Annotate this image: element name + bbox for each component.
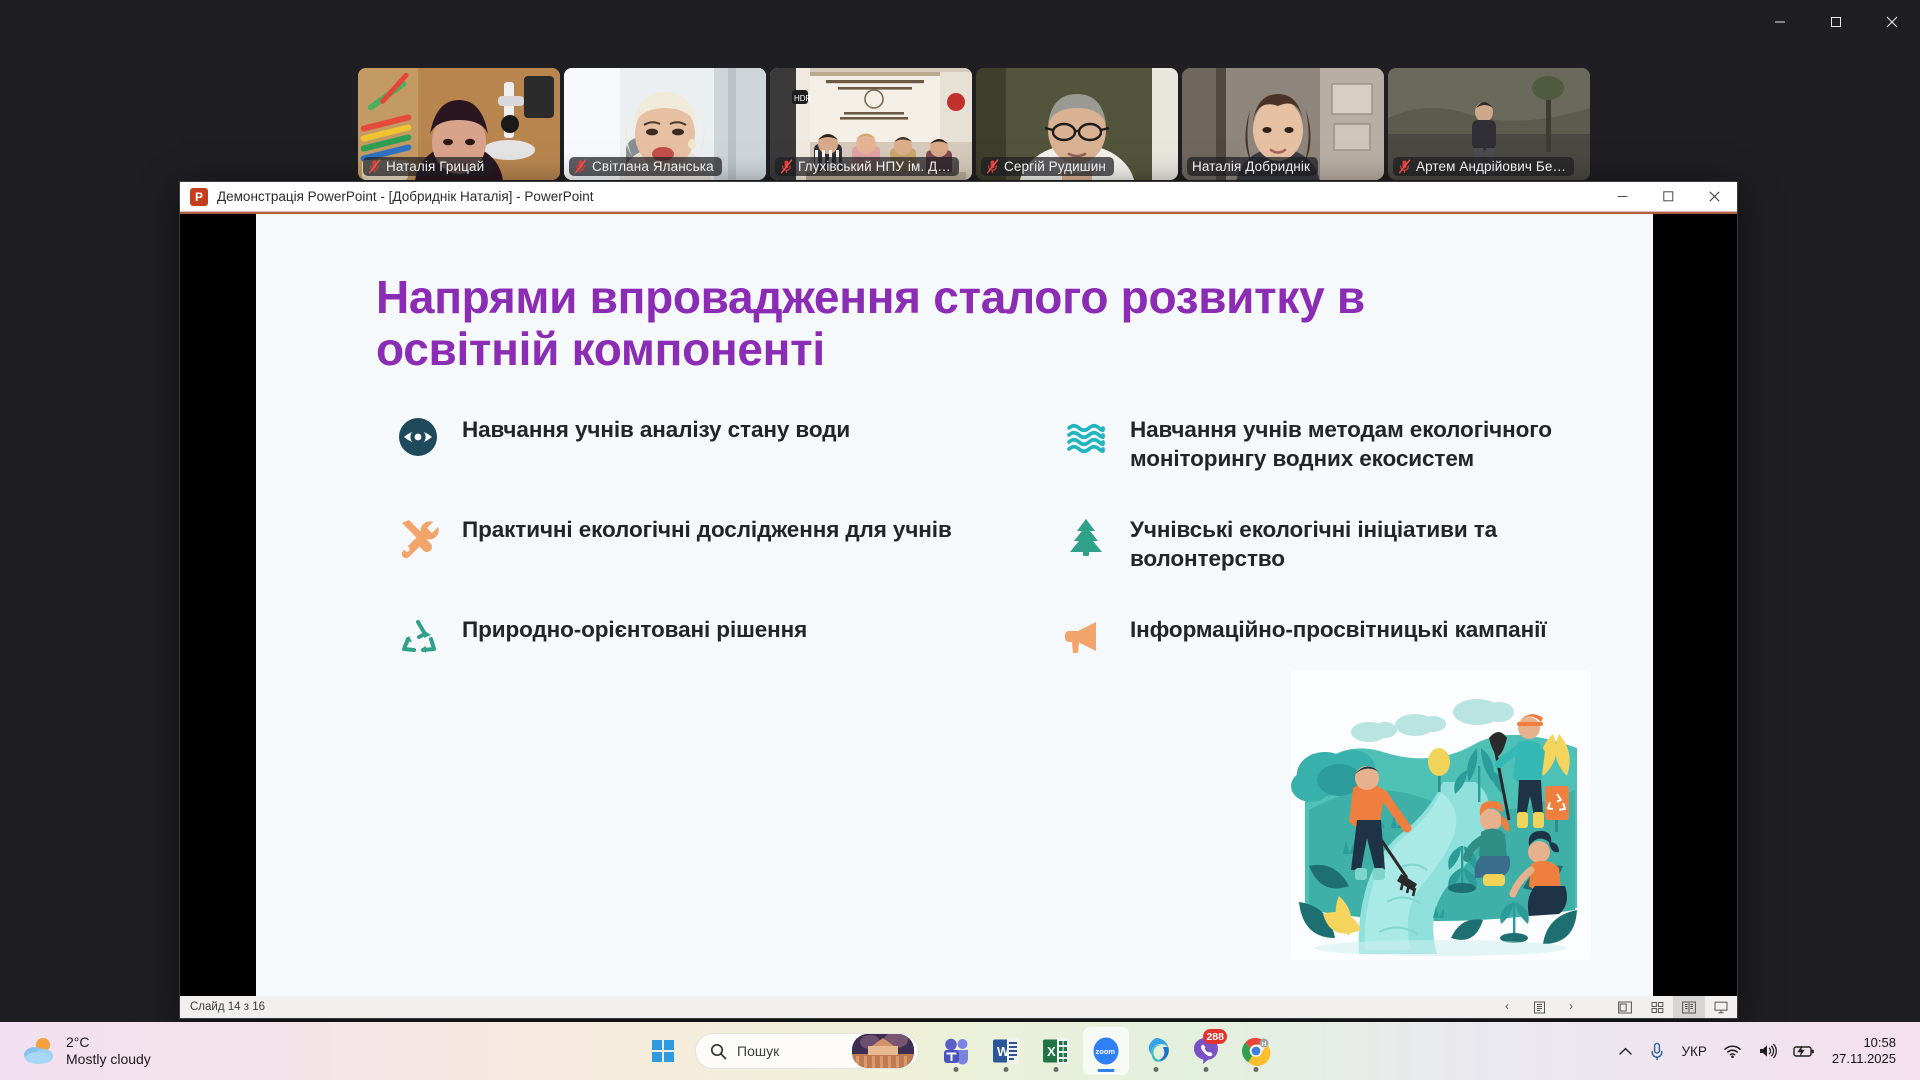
mic-muted-icon (368, 159, 381, 174)
search-thumbnail-image (852, 1034, 914, 1068)
slide-title: Напрями впровадження сталого розвитку в … (376, 272, 1556, 375)
eco-cleanup-illustration (1291, 670, 1591, 960)
clock-time: 10:58 (1832, 1035, 1896, 1051)
weather-text: 2°C Mostly cloudy (66, 1034, 151, 1067)
participant-namebar: Світлана Яланська (569, 157, 722, 176)
eye-icon (396, 415, 440, 459)
windows-logo-icon (652, 1040, 674, 1062)
participant-name: Наталія Добриднік (1192, 159, 1310, 174)
app-running-indicator (1054, 1067, 1059, 1072)
taskbar-center-group: Пошук (641, 1027, 1279, 1075)
ppt-minimize-button[interactable] (1599, 182, 1645, 212)
svg-text:HDR: HDR (794, 94, 812, 103)
windows-taskbar: 2°C Mostly cloudy Пошук (0, 1022, 1920, 1080)
participant-namebar: Наталія Добриднік (1187, 157, 1318, 176)
slide-bullet-grid: Навчання учнів аналізу стану води Навчан… (396, 399, 1626, 685)
powerpoint-window: P Демонстрація PowerPoint - [Добриднік Н… (180, 182, 1737, 1018)
previous-slide-button[interactable]: ‹ (1491, 996, 1523, 1018)
start-button[interactable] (641, 1029, 685, 1073)
ppt-maximize-button[interactable] (1645, 182, 1691, 212)
zoom-icon: zoom (1091, 1036, 1121, 1066)
slide-stage: Напрями впровадження сталого розвитку в … (180, 214, 1737, 996)
megaphone-icon (1064, 615, 1108, 659)
app-running-indicator (1204, 1067, 1209, 1072)
slide-canvas: Напрями впровадження сталого розвитку в … (256, 214, 1653, 996)
participant-tile[interactable]: HDR Глухівський НПУ ім. Д… (770, 68, 972, 180)
weather-icon (22, 1036, 56, 1066)
taskbar-app-chrome[interactable]: H (1233, 1027, 1279, 1075)
tray-expand-chevron-icon[interactable] (1610, 1031, 1640, 1071)
app-running-indicator (1154, 1067, 1159, 1072)
app-active-indicator (1098, 1069, 1115, 1073)
participant-tile[interactable]: Світлана Яланська (564, 68, 766, 180)
clock-date: 27.11.2025 (1832, 1051, 1896, 1067)
zoom-minimize-button[interactable] (1752, 0, 1808, 44)
participant-tile[interactable]: Сергій Рудишин (976, 68, 1178, 180)
taskbar-app-teams[interactable] (933, 1027, 979, 1075)
teams-icon (941, 1036, 971, 1066)
powerpoint-status-bar: Слайд 14 з 16 ‹ › (180, 996, 1737, 1018)
powerpoint-logo-icon: P (190, 188, 208, 206)
microphone-icon[interactable] (1642, 1031, 1672, 1071)
participant-tile[interactable]: Артем Андрійович Бе… (1388, 68, 1590, 180)
bullet-item: Учнівські екологічні ініціативи та волон… (1064, 499, 1624, 599)
language-indicator[interactable]: УКР (1674, 1031, 1713, 1071)
taskbar-app-excel[interactable]: X (1033, 1027, 1079, 1075)
bullet-text: Навчання учнів аналізу стану води (462, 413, 850, 445)
participant-namebar: Глухівський НПУ ім. Д… (775, 157, 959, 176)
svg-text:X: X (1047, 1044, 1056, 1059)
recycle-icon (396, 615, 440, 659)
mic-muted-icon (986, 159, 999, 174)
mic-muted-icon (780, 159, 793, 174)
mic-muted-icon (1398, 159, 1411, 174)
participant-namebar: Наталія Грицай (363, 157, 492, 176)
slide-illustration (1291, 670, 1591, 960)
zoom-close-button[interactable] (1864, 0, 1920, 44)
clock[interactable]: 10:58 27.11.2025 (1824, 1035, 1906, 1068)
svg-text:zoom: zoom (1096, 1047, 1116, 1056)
bullet-item: Природно-орієнтовані рішення (396, 599, 996, 685)
weather-condition: Mostly cloudy (66, 1051, 151, 1068)
volume-icon[interactable] (1751, 1031, 1784, 1071)
next-slide-button[interactable]: › (1555, 996, 1587, 1018)
taskbar-app-zoom[interactable]: zoom (1083, 1027, 1129, 1075)
waves-icon (1064, 415, 1108, 459)
taskbar-app-edge[interactable] (1133, 1027, 1179, 1075)
taskbar-app-word[interactable]: W (983, 1027, 1029, 1075)
participant-name: Сергій Рудишин (1004, 159, 1106, 174)
search-placeholder: Пошук (737, 1043, 842, 1059)
slide-show-view-button[interactable] (1705, 996, 1737, 1018)
normal-view-button[interactable] (1609, 996, 1641, 1018)
bullet-item: Навчання учнів аналізу стану води (396, 399, 996, 499)
bullet-text: Учнівські екологічні ініціативи та волон… (1130, 513, 1624, 574)
tools-icon (396, 515, 440, 559)
participant-tile-active[interactable]: Наталія Добриднік (1182, 68, 1384, 180)
reading-view-button[interactable] (1673, 996, 1705, 1018)
participant-name: Наталія Грицай (386, 159, 484, 174)
bullet-item: Практичні екологічні дослідження для учн… (396, 499, 996, 599)
taskbar-app-viber[interactable]: 288 (1183, 1027, 1229, 1075)
powerpoint-titlebar[interactable]: P Демонстрація PowerPoint - [Добриднік Н… (180, 182, 1737, 212)
viber-notification-badge: 288 (1203, 1029, 1227, 1044)
app-running-indicator (1254, 1067, 1259, 1072)
bullet-text: Практичні екологічні дослідження для учн… (462, 513, 952, 545)
system-tray: УКР (1610, 1022, 1920, 1080)
weather-temperature: 2°C (66, 1034, 151, 1051)
word-icon: W (991, 1036, 1021, 1066)
bullet-text: Природно-орієнтовані рішення (462, 613, 807, 645)
search-icon (710, 1043, 727, 1060)
participant-tile[interactable]: Наталія Грицай (358, 68, 560, 180)
participant-namebar: Артем Андрійович Бе… (1393, 157, 1574, 176)
slide-notes-button[interactable] (1523, 996, 1555, 1018)
wifi-icon[interactable] (1716, 1031, 1749, 1071)
zoom-window-controls (1752, 0, 1920, 44)
zoom-maximize-button[interactable] (1808, 0, 1864, 44)
search-highlight-thumbnail[interactable] (852, 1034, 914, 1068)
powerpoint-window-title: Демонстрація PowerPoint - [Добриднік Нат… (217, 189, 593, 204)
excel-icon: X (1041, 1036, 1071, 1066)
participant-namebar: Сергій Рудишин (981, 157, 1114, 176)
ppt-close-button[interactable] (1691, 182, 1737, 212)
participant-name: Світлана Яланська (592, 159, 714, 174)
weather-widget[interactable]: 2°C Mostly cloudy (0, 1034, 300, 1067)
participant-filmstrip: Наталія Грицай (358, 68, 1590, 180)
battery-icon[interactable] (1786, 1031, 1822, 1071)
chrome-icon: H (1241, 1036, 1271, 1066)
app-running-indicator (954, 1067, 959, 1072)
mic-muted-icon (574, 159, 587, 174)
slide-counter: Слайд 14 з 16 (180, 1001, 265, 1013)
edge-icon (1141, 1036, 1171, 1066)
tree-icon (1064, 515, 1108, 559)
svg-text:H: H (1262, 1041, 1267, 1048)
slide-sorter-view-button[interactable] (1641, 996, 1673, 1018)
bullet-item: Навчання учнів методам екологічного моні… (1064, 399, 1624, 499)
participant-name: Глухівський НПУ ім. Д… (798, 159, 951, 174)
participant-name: Артем Андрійович Бе… (1416, 159, 1566, 174)
app-running-indicator (1004, 1067, 1009, 1072)
bullet-text: Інформаційно-просвітницькі кампанії (1130, 613, 1546, 645)
bullet-text: Навчання учнів методам екологічного моні… (1130, 413, 1624, 474)
search-box[interactable]: Пошук (695, 1033, 919, 1069)
